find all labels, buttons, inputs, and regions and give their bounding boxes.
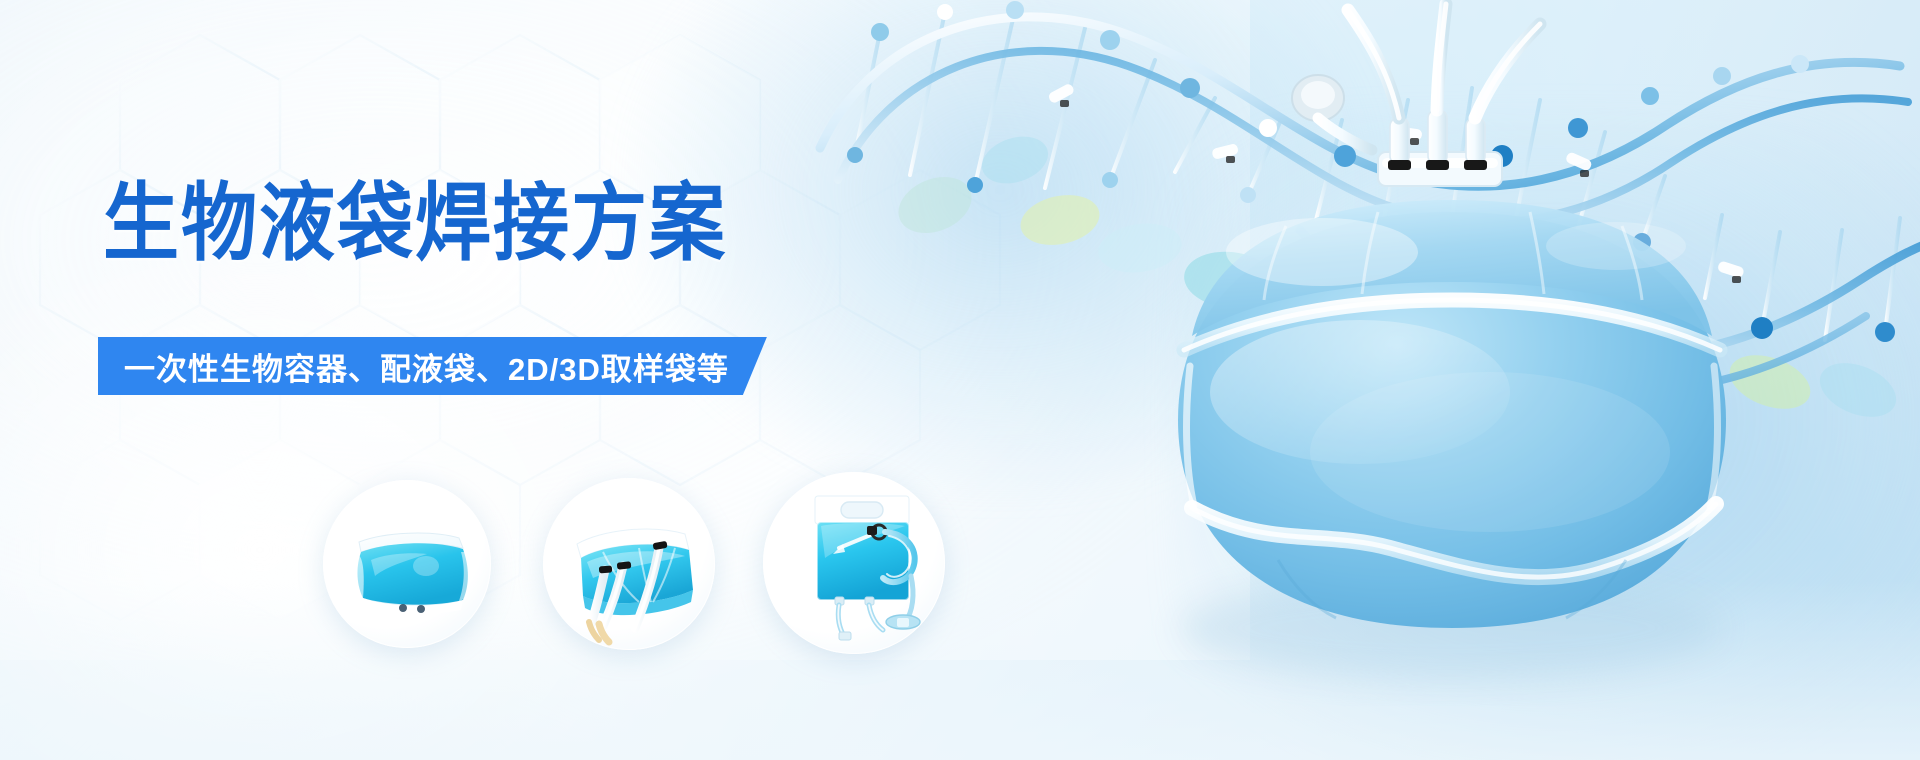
hero-product-3d-bag xyxy=(1060,0,1920,760)
banner-copy: 生物液袋焊接方案 一次性生物容器、配液袋、2D/3D取样袋等 xyxy=(0,0,980,760)
hero-banner: 生物液袋焊接方案 一次性生物容器、配液袋、2D/3D取样袋等 xyxy=(0,0,1920,760)
banner-headline: 生物液袋焊接方案 xyxy=(103,182,727,267)
port-manifold xyxy=(1292,4,1540,186)
bioprocess-bag-icon xyxy=(1060,0,1920,760)
banner-subtitle-bar: 一次性生物容器、配液袋、2D/3D取样袋等 xyxy=(98,337,767,395)
banner-subtitle-text: 一次性生物容器、配液袋、2D/3D取样袋等 xyxy=(124,344,729,389)
